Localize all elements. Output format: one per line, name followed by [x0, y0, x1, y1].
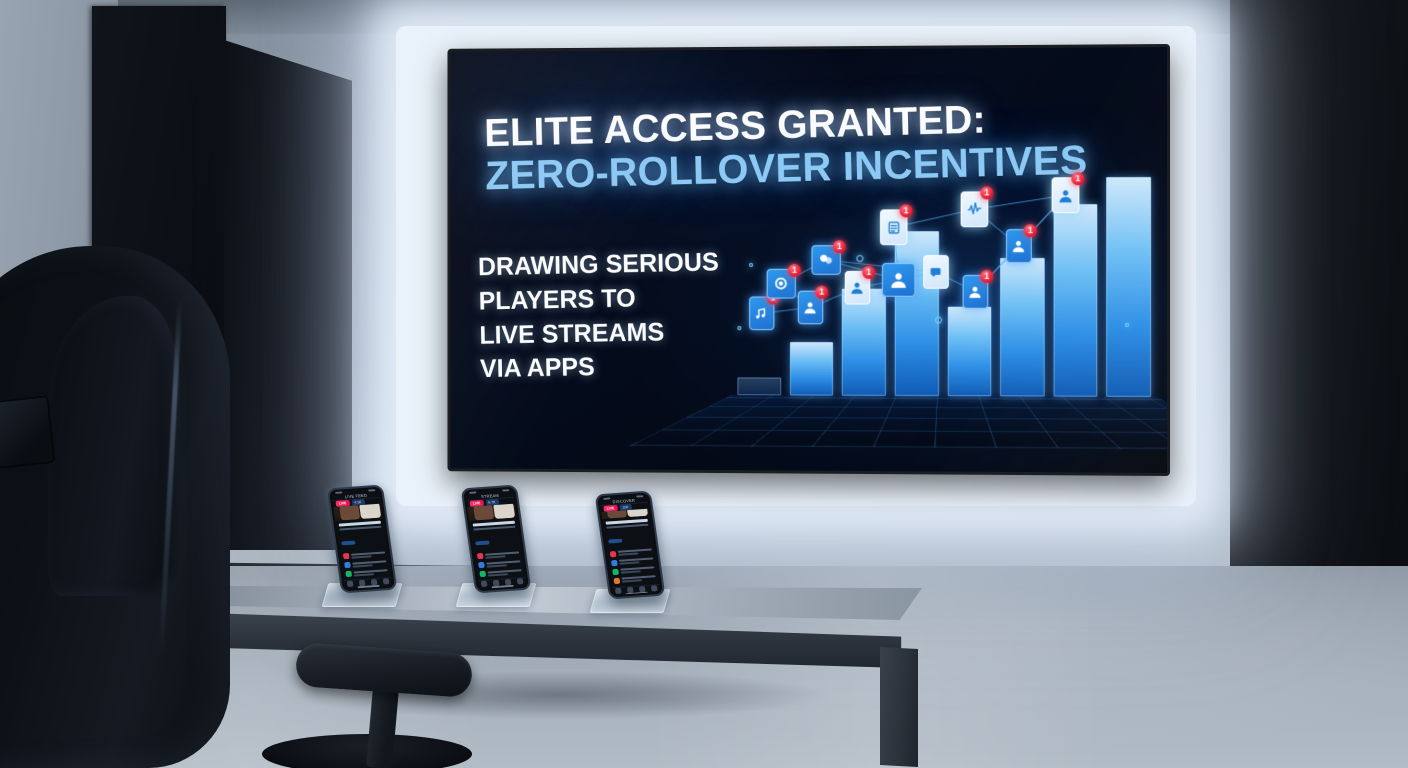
category-chip[interactable] [608, 538, 623, 543]
notification-badge: 1 [980, 270, 993, 283]
wall-display[interactable]: ELITE ACCESS GRANTED: ZERO-ROLLOVER INCE… [447, 44, 1170, 476]
list-item[interactable] [611, 557, 654, 566]
notification-badge: 1 [980, 186, 993, 199]
display-screen: ELITE ACCESS GRANTED: ZERO-ROLLOVER INCE… [450, 47, 1167, 473]
user-icon [889, 270, 908, 290]
avatar [610, 551, 617, 557]
avatar [613, 577, 620, 583]
list-item[interactable] [613, 575, 656, 584]
list-item[interactable] [478, 560, 521, 569]
body-copy-line-3: LIVE STREAMS [479, 313, 721, 352]
user-icon [968, 282, 983, 302]
list-item-text [351, 551, 386, 559]
list-item[interactable] [612, 566, 655, 575]
phone-device[interactable]: LIVE FEED LIVE 4.2K [327, 485, 398, 594]
phone-device[interactable]: STREAM LIVE 8.7K [461, 485, 532, 594]
document-icon [886, 217, 902, 238]
user-node-a: 1 [798, 291, 823, 325]
user-node-d: 1 [1006, 229, 1032, 263]
user-node-e: 1 [1052, 177, 1080, 213]
accent-node-ring [856, 255, 863, 262]
accent-node-ring [935, 317, 942, 324]
avatar [343, 553, 350, 559]
phone-device[interactable]: DISCOVER LIVE 12K [595, 491, 666, 600]
document-node: 1 [880, 209, 907, 245]
notification-badge: 1 [788, 264, 801, 277]
accent-dot [737, 326, 741, 330]
body-copy-line-2: PLAYERS TO [478, 279, 720, 318]
phone-live-stage[interactable]: DISCOVER LIVE 12K [602, 492, 658, 598]
avatar [611, 559, 618, 565]
accent-dot [749, 263, 753, 267]
stream-list [339, 548, 391, 581]
avatar [478, 562, 485, 568]
list-item-text [485, 551, 520, 559]
user-icon [1011, 236, 1026, 256]
camera-node: 1 [767, 269, 796, 299]
list-item-text [352, 560, 387, 568]
display-table-leg [880, 647, 918, 767]
avatar [344, 562, 351, 568]
message-node [923, 255, 949, 289]
chair-headrest-slot [0, 395, 55, 469]
stream-subtitle [473, 526, 515, 531]
phone-live-duo-1[interactable]: LIVE FEED LIVE 4.2K [334, 486, 390, 592]
waveform-node: 1 [961, 191, 989, 227]
list-item[interactable] [343, 551, 386, 560]
camera-icon [773, 275, 790, 292]
stream-subtitle [339, 526, 381, 531]
notification-badge: 1 [900, 204, 913, 217]
list-item-text [618, 548, 653, 556]
user-icon [803, 298, 818, 318]
avatar [479, 571, 486, 577]
user-node-c: 1 [963, 275, 989, 309]
category-chip[interactable] [341, 541, 356, 546]
user-node-b: 1 [845, 271, 870, 305]
waveform-icon [966, 199, 982, 220]
body-copy-line-4: VIA APPS [480, 348, 722, 387]
avatar [477, 553, 484, 559]
notification-badge: 1 [815, 286, 828, 299]
chat-node: 1 [812, 245, 841, 275]
acoustic-panel-left-corner [224, 40, 352, 550]
category-chip[interactable] [475, 541, 490, 546]
message-icon [929, 262, 944, 282]
profile-node [882, 263, 915, 297]
stream-meta [335, 518, 387, 551]
stream-list [606, 545, 659, 587]
list-item[interactable] [479, 569, 522, 578]
phone-live-duo-2[interactable]: STREAM LIVE 8.7K [468, 486, 524, 592]
chair-side-bolster [48, 296, 180, 596]
chat-icon [818, 251, 835, 268]
list-item-text [487, 569, 522, 577]
list-item-text [486, 560, 521, 568]
user-icon [1057, 185, 1073, 206]
stream-list [473, 548, 525, 581]
accent-dot [1125, 323, 1129, 327]
list-item[interactable] [477, 551, 520, 560]
phone-screen: DISCOVER LIVE 12K [599, 495, 661, 595]
user-icon [850, 278, 865, 298]
showroom-scene: ELITE ACCESS GRANTED: ZERO-ROLLOVER INCE… [0, 0, 1408, 768]
chart-graphic: 1111111111 [732, 171, 1157, 471]
list-item-text [621, 575, 656, 583]
body-copy-line-1: DRAWING SERIOUS [478, 245, 720, 284]
notification-badge: 1 [1071, 172, 1084, 185]
phone-screen: LIVE FEED LIVE 4.2K [331, 489, 393, 589]
notification-badge: 1 [862, 266, 875, 279]
notification-badge: 1 [1024, 224, 1037, 237]
list-item-text [353, 569, 388, 577]
notification-badge: 1 [833, 240, 846, 253]
phone-screen: STREAM LIVE 8.7K [465, 489, 527, 589]
list-item-text [619, 557, 654, 565]
list-item[interactable] [610, 548, 653, 557]
body-copy-block: DRAWING SERIOUS PLAYERS TO LIVE STREAMS … [478, 245, 722, 387]
list-item-text [620, 566, 655, 574]
stream-meta [602, 515, 654, 548]
avatar [612, 568, 619, 574]
list-item[interactable] [344, 560, 387, 569]
list-item[interactable] [345, 569, 388, 578]
avatar [345, 571, 352, 577]
media-icon [754, 304, 769, 323]
media-node: 1 [749, 297, 774, 331]
stream-meta [469, 518, 521, 551]
network-link-lines [732, 171, 1157, 471]
stream-subtitle [606, 523, 648, 528]
